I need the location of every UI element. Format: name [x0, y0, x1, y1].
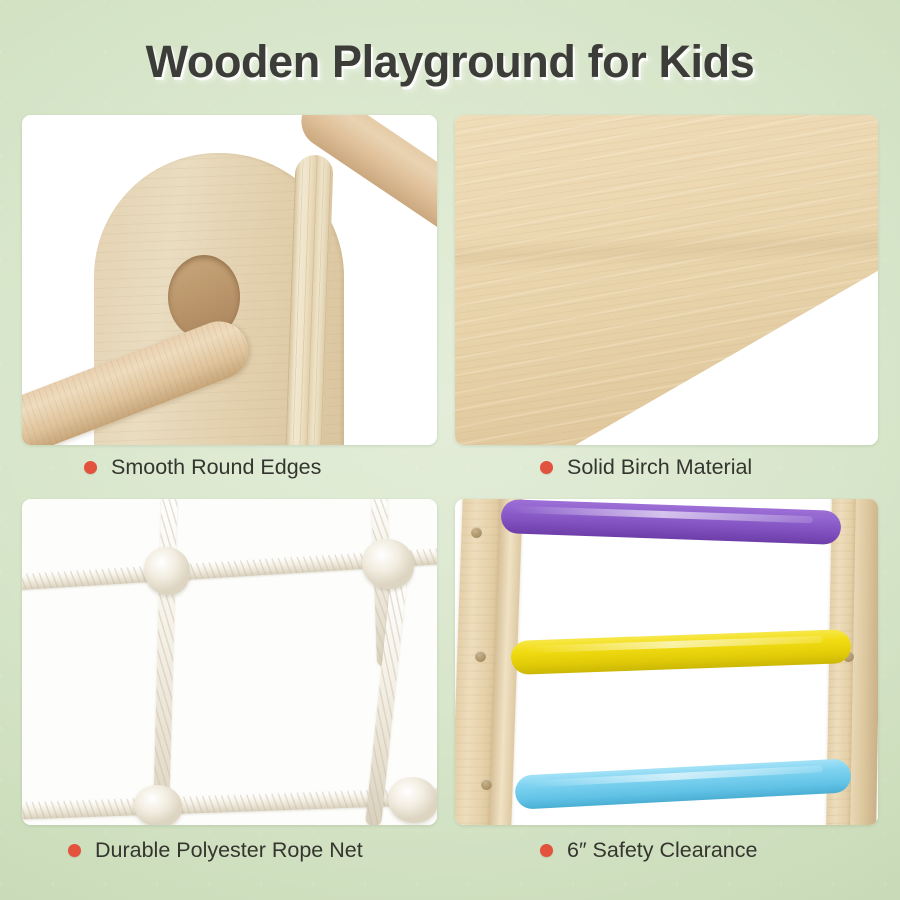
caption-smooth-round-edges: Smooth Round Edges — [84, 455, 321, 480]
birch-board-photo — [455, 115, 878, 445]
rail-screw — [475, 651, 486, 662]
bullet-dot-icon — [84, 461, 97, 474]
caption-durable-polyester-rope-net: Durable Polyester Rope Net — [68, 838, 363, 863]
rope-knot — [134, 785, 182, 825]
caption-label: Durable Polyester Rope Net — [95, 838, 363, 863]
caption-solid-birch-material: Solid Birch Material — [540, 455, 752, 480]
rail-screw — [471, 527, 482, 538]
ladder-rungs-photo — [455, 499, 878, 825]
bullet-dot-icon — [540, 844, 553, 857]
feature-card-durable-polyester-rope-net — [22, 499, 437, 825]
caption-label: 6″ Safety Clearance — [567, 838, 757, 863]
rope-net-photo — [22, 499, 437, 825]
rope-knot — [362, 539, 414, 589]
rounded-edge-photo — [22, 115, 437, 445]
rope-knot — [144, 547, 190, 595]
bullet-dot-icon — [540, 461, 553, 474]
rope-knot — [388, 777, 437, 823]
feature-card-safety-clearance — [455, 499, 878, 825]
ladder-rail-right-outer — [850, 499, 878, 825]
feature-card-solid-birch-material — [455, 115, 878, 445]
caption-label: Solid Birch Material — [567, 455, 752, 480]
feature-card-smooth-round-edges — [22, 115, 437, 445]
caption-label: Smooth Round Edges — [111, 455, 321, 480]
bullet-dot-icon — [68, 844, 81, 857]
caption-safety-clearance: 6″ Safety Clearance — [540, 838, 757, 863]
rail-screw — [481, 779, 492, 790]
page-title: Wooden Playground for Kids — [0, 36, 900, 88]
